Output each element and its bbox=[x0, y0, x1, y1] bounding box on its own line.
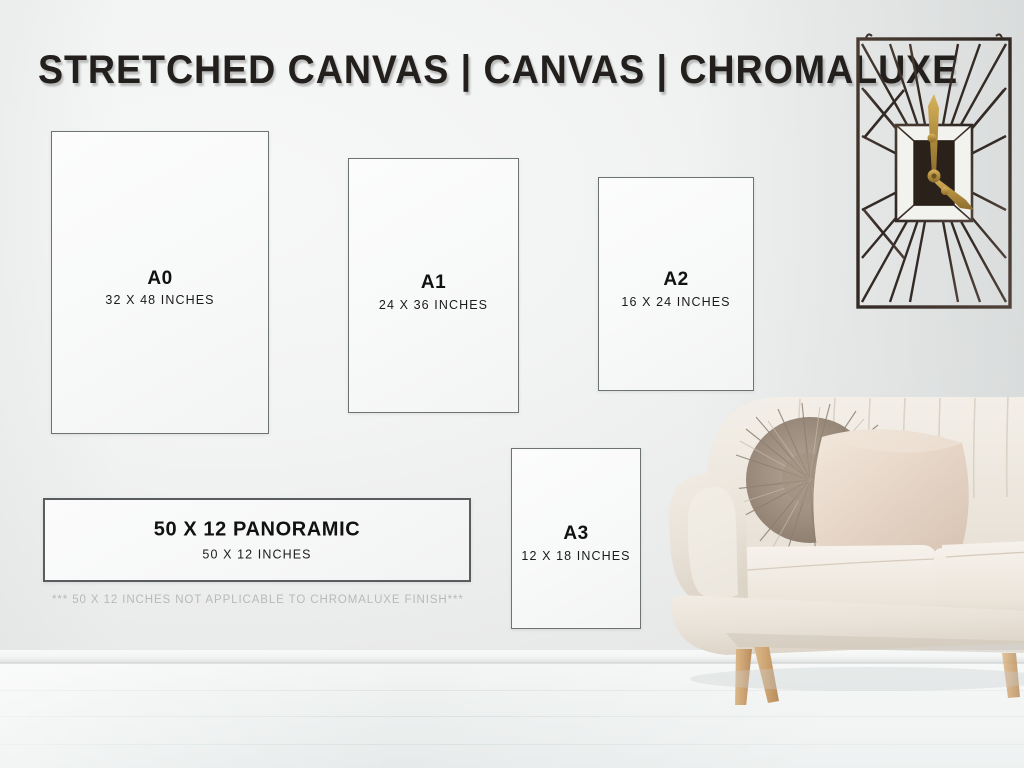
frame-option-panoramic[interactable]: 50 X 12 PANORAMIC 50 X 12 INCHES bbox=[43, 498, 471, 582]
frame-option-a2[interactable]: A2 16 X 24 INCHES bbox=[598, 177, 754, 391]
scene: STRETCHED CANVAS | CANVAS | CHROMALUXE bbox=[0, 0, 1024, 768]
frame-size: 32 X 48 INCHES bbox=[52, 295, 268, 309]
frame-code: A3 bbox=[512, 524, 640, 545]
frame-label-group: A2 16 X 24 INCHES bbox=[599, 271, 753, 311]
page-title: STRETCHED CANVAS | CANVAS | CHROMALUXE bbox=[38, 48, 958, 93]
frame-label-group: A3 12 X 18 INCHES bbox=[512, 524, 640, 564]
wall-clock-icon bbox=[848, 28, 1020, 316]
frame-code: A2 bbox=[599, 271, 753, 292]
frame-option-a0[interactable]: A0 32 X 48 INCHES bbox=[51, 131, 269, 434]
frame-size: 16 X 24 INCHES bbox=[599, 296, 753, 310]
panoramic-size: 50 X 12 INCHES bbox=[45, 548, 469, 562]
frame-label-group: A1 24 X 36 INCHES bbox=[349, 273, 518, 313]
frame-option-a3[interactable]: A3 12 X 18 INCHES bbox=[511, 448, 641, 629]
panoramic-footnote: *** 50 X 12 INCHES NOT APPLICABLE TO CHR… bbox=[52, 594, 464, 606]
frame-label-group: 50 X 12 PANORAMIC 50 X 12 INCHES bbox=[45, 519, 469, 562]
frame-size: 12 X 18 INCHES bbox=[512, 550, 640, 564]
frame-code: A1 bbox=[349, 273, 518, 294]
sofa-illustration bbox=[650, 385, 1024, 705]
frame-label-group: A0 32 X 48 INCHES bbox=[52, 269, 268, 309]
frame-option-a1[interactable]: A1 24 X 36 INCHES bbox=[348, 158, 519, 413]
frame-size: 24 X 36 INCHES bbox=[349, 299, 518, 313]
frame-code: A0 bbox=[52, 269, 268, 290]
panoramic-code: 50 X 12 PANORAMIC bbox=[45, 519, 469, 542]
